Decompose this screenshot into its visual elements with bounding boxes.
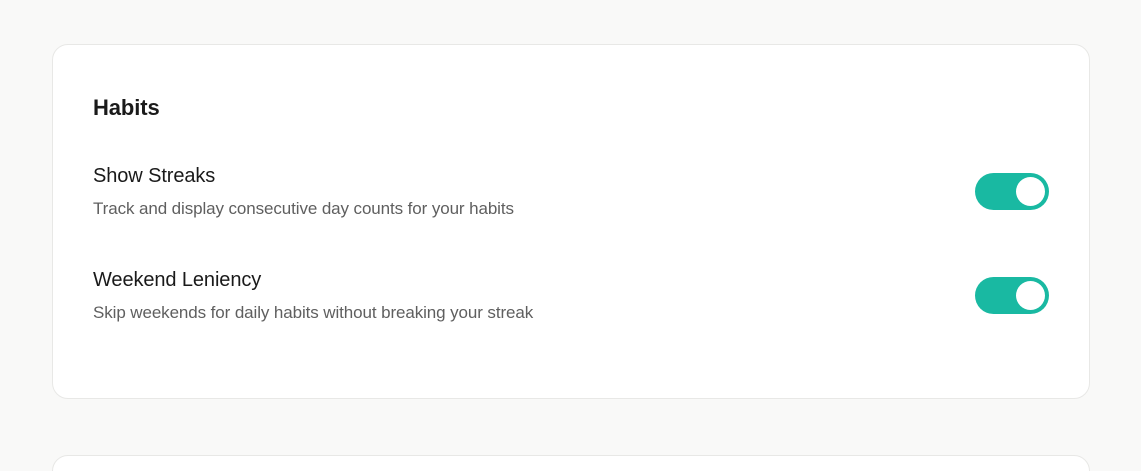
settings-card-next [52,455,1090,471]
section-title-habits: Habits [93,45,1049,119]
setting-description-weekend-leniency: Skip weekends for daily habits without b… [93,303,533,323]
setting-row-weekend-leniency: Weekend Leniency Skip weekends for daily… [93,269,1049,323]
setting-label-show-streaks: Show Streaks [93,165,514,189]
toggle-show-streaks[interactable] [975,173,1049,210]
settings-card-habits: Habits Show Streaks Track and display co… [52,44,1090,399]
setting-text-weekend-leniency: Weekend Leniency Skip weekends for daily… [93,269,533,323]
setting-description-show-streaks: Track and display consecutive day counts… [93,199,514,219]
settings-page: Habits Show Streaks Track and display co… [0,0,1141,471]
setting-text-show-streaks: Show Streaks Track and display consecuti… [93,165,514,219]
toggle-knob-icon [1016,177,1045,206]
setting-label-weekend-leniency: Weekend Leniency [93,269,533,293]
setting-row-show-streaks: Show Streaks Track and display consecuti… [93,165,1049,219]
toggle-weekend-leniency[interactable] [975,277,1049,314]
toggle-knob-icon [1016,281,1045,310]
